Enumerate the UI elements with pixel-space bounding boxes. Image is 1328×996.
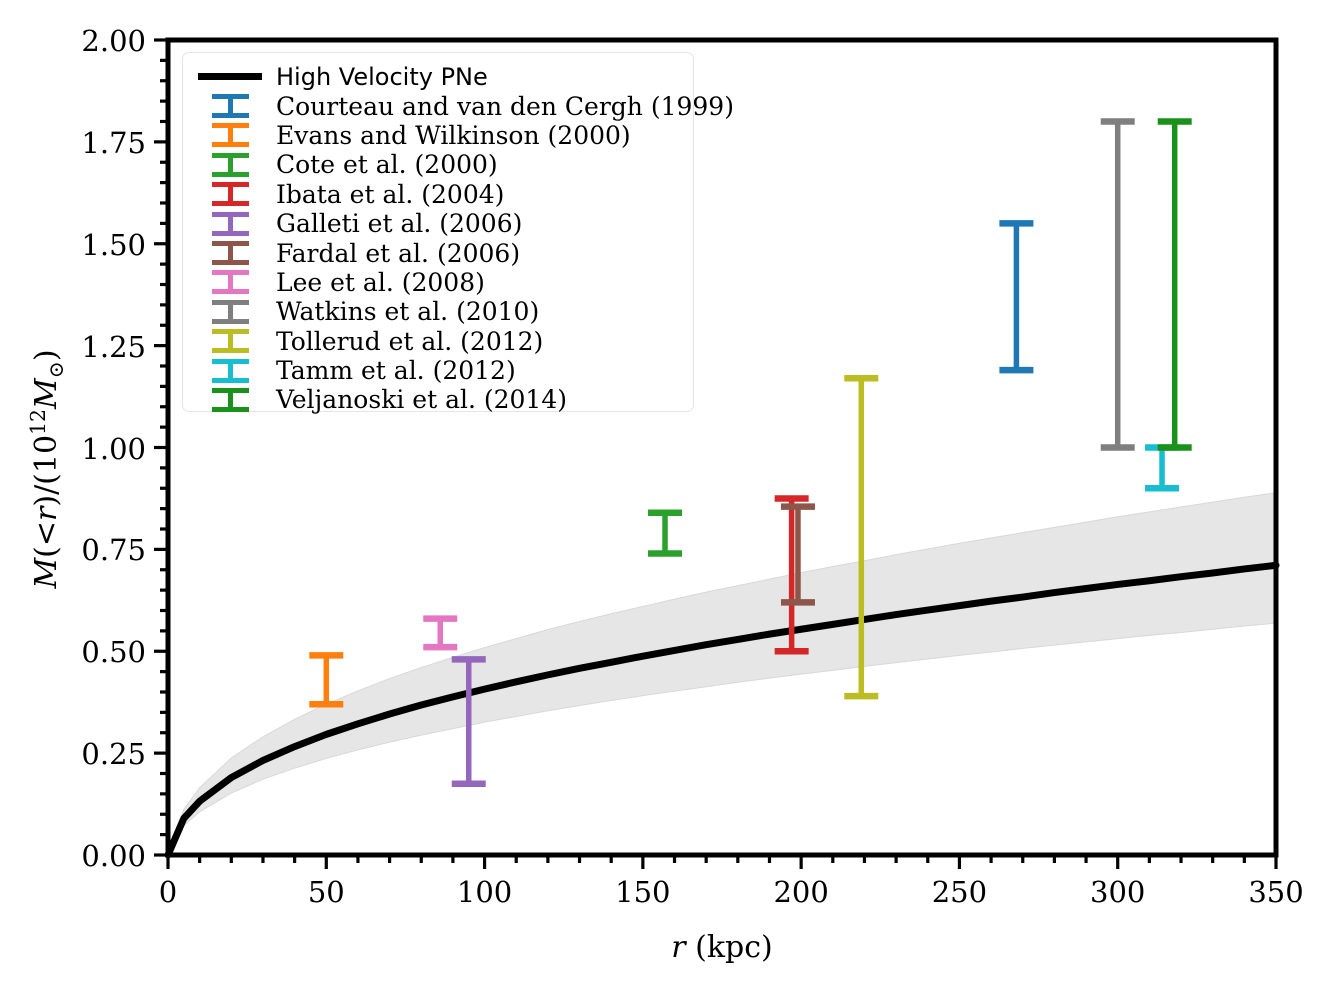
errorbar: [1145, 448, 1179, 489]
y-label-m: M: [29, 558, 64, 589]
legend-item-label: Galleti et al. (2006): [276, 211, 522, 236]
x-tick-label: 200: [741, 875, 861, 909]
legend-item[interactable]: Courteau and van den Cergh (1999): [193, 91, 683, 120]
legend-item-label: Veljanoski et al. (2014): [276, 387, 567, 412]
y-tick-label: 1.50: [26, 228, 146, 262]
legend-item[interactable]: High Velocity PNe: [193, 62, 683, 91]
x-tick-label: 250: [899, 875, 1019, 909]
x-tick-label: 100: [425, 875, 545, 909]
legend-item-label: Evans and Wilkinson (2000): [276, 123, 631, 148]
errorbar: [648, 513, 682, 554]
legend-item-label: Ibata et al. (2004): [276, 182, 504, 207]
y-label-msun: M: [29, 378, 64, 409]
legend-item[interactable]: Watkins et al. (2010): [193, 297, 683, 326]
y-label-lt: (<: [29, 521, 64, 558]
legend-errorbar-swatch: [193, 269, 267, 295]
y-tick-label: 2.00: [26, 24, 146, 58]
errorbar: [1158, 122, 1192, 448]
x-tick-label: 0: [108, 875, 228, 909]
x-label-units: (kpc): [695, 930, 773, 965]
legend-item[interactable]: Evans and Wilkinson (2000): [193, 121, 683, 150]
x-tick-label: 150: [583, 875, 703, 909]
figure-canvas: 0.000.250.500.751.001.251.501.752.000501…: [0, 0, 1328, 996]
legend-errorbar-swatch: [193, 93, 267, 119]
legend-errorbar-swatch: [193, 299, 267, 325]
y-axis-label: M(<r)/(1012M⊙): [26, 259, 68, 679]
legend-item-label: Watkins et al. (2010): [276, 299, 539, 324]
y-tick-label: 0.00: [26, 839, 146, 873]
sun-symbol-icon: ⊙: [44, 361, 68, 378]
errorbar: [423, 619, 457, 648]
legend-errorbar-swatch: [193, 387, 267, 413]
legend-errorbar-swatch: [193, 181, 267, 207]
errorbar: [309, 655, 343, 704]
errorbar: [1101, 122, 1135, 448]
errorbar: [999, 223, 1033, 370]
legend-errorbar-swatch: [193, 122, 267, 148]
legend-errorbar-swatch: [193, 358, 267, 384]
y-tick-label: 0.25: [26, 737, 146, 771]
legend-item[interactable]: Tollerud et al. (2012): [193, 327, 683, 356]
y-label-close: ): [29, 349, 64, 361]
legend-item-label: Cote et al. (2000): [276, 152, 498, 177]
legend-errorbar-swatch: [193, 240, 267, 266]
legend-item-label: Fardal et al. (2006): [276, 241, 520, 266]
legend-errorbar-swatch: [193, 328, 267, 354]
legend-item-label: Lee et al. (2008): [276, 270, 485, 295]
y-label-mid: )/(10: [29, 435, 64, 507]
x-tick-label: 50: [266, 875, 386, 909]
y-tick-label: 1.75: [26, 126, 146, 160]
y-label-exponent: 12: [26, 409, 50, 435]
legend-item-label: Courteau and van den Cergh (1999): [276, 94, 734, 119]
legend-item[interactable]: Cote et al. (2000): [193, 150, 683, 179]
legend-errorbar-swatch: [193, 152, 267, 178]
x-tick-label: 300: [1058, 875, 1178, 909]
legend-errorbar-swatch: [193, 211, 267, 237]
y-label-r: r: [29, 507, 64, 521]
legend-item-label: Tollerud et al. (2012): [276, 329, 543, 354]
legend-item[interactable]: Tamm et al. (2012): [193, 356, 683, 385]
legend-item-label: High Velocity PNe: [276, 65, 488, 89]
legend-item[interactable]: Fardal et al. (2006): [193, 238, 683, 267]
legend-box[interactable]: High Velocity PNeCourteau and van den Ce…: [182, 52, 694, 412]
confidence-band: [168, 493, 1276, 855]
x-tick-label: 350: [1216, 875, 1328, 909]
legend-item[interactable]: Veljanoski et al. (2014): [193, 385, 683, 414]
legend-line-swatch: [193, 64, 267, 90]
legend-item[interactable]: Lee et al. (2008): [193, 268, 683, 297]
legend-item[interactable]: Galleti et al. (2006): [193, 209, 683, 238]
x-axis-label: r (kpc): [168, 930, 1276, 965]
legend-item[interactable]: Ibata et al. (2004): [193, 180, 683, 209]
legend-item-label: Tamm et al. (2012): [276, 358, 516, 383]
